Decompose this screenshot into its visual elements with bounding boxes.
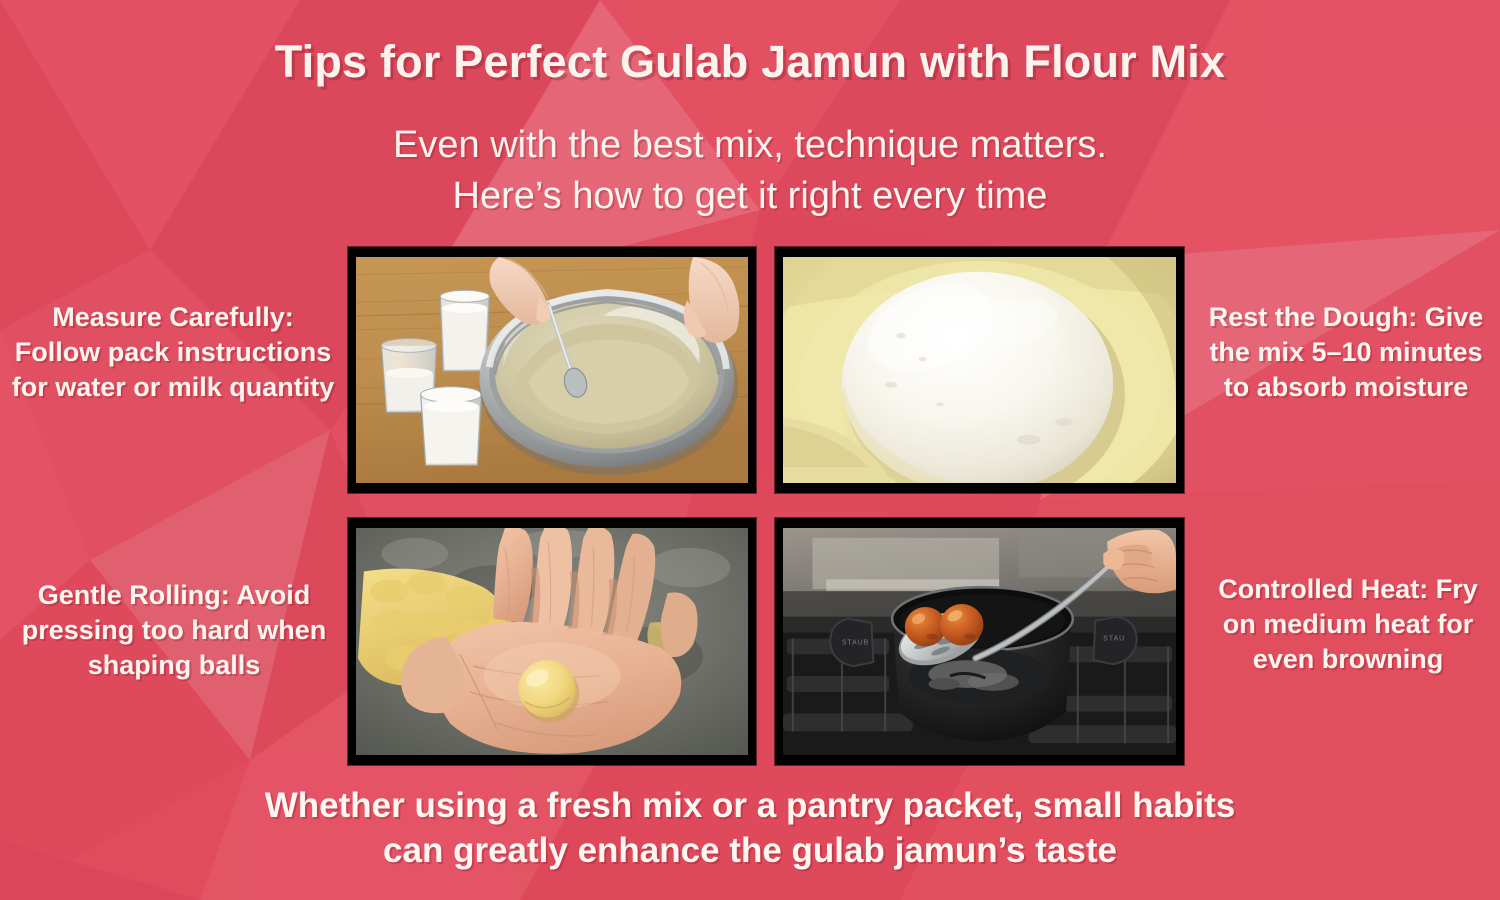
footnote-line-2: can greatly enhance the gulab jamun’s ta…	[0, 829, 1500, 874]
caption-rest-the-dough: Rest the Dough: Give the mix 5–10 minute…	[1196, 300, 1496, 405]
caption-gentle-rolling: Gentle Rolling: Avoid pressing too hard …	[10, 578, 338, 683]
svg-text:STAU: STAU	[1103, 636, 1125, 643]
photo-frame-gentle-rolling	[348, 518, 756, 765]
photo-frame-measure-carefully	[348, 247, 756, 493]
footnote-line-1: Whether using a fresh mix or a pantry pa…	[0, 784, 1500, 829]
caption-measure-carefully: Measure Carefully: Follow pack instructi…	[8, 300, 338, 405]
photo-frame-rest-the-dough	[775, 247, 1184, 493]
photo-frame-controlled-heat: STAUB STAU	[775, 518, 1184, 765]
poster-footnote: Whether using a fresh mix or a pantry pa…	[0, 784, 1500, 874]
svg-text:STAUB: STAUB	[842, 639, 869, 646]
photo-rest-the-dough	[783, 257, 1176, 483]
caption-controlled-heat: Controlled Heat: Fry on medium heat for …	[1200, 572, 1496, 677]
photo-gentle-rolling	[356, 528, 748, 755]
poster-title: Tips for Perfect Gulab Jamun with Flour …	[0, 36, 1500, 88]
poster-subtitle: Even with the best mix, technique matter…	[0, 120, 1500, 222]
infographic-poster: Tips for Perfect Gulab Jamun with Flour …	[0, 0, 1500, 900]
photo-controlled-heat: STAUB STAU	[783, 528, 1176, 755]
subtitle-line-2: Here’s how to get it right every time	[0, 171, 1500, 222]
subtitle-line-1: Even with the best mix, technique matter…	[0, 120, 1500, 171]
photo-measure-carefully	[356, 257, 748, 483]
